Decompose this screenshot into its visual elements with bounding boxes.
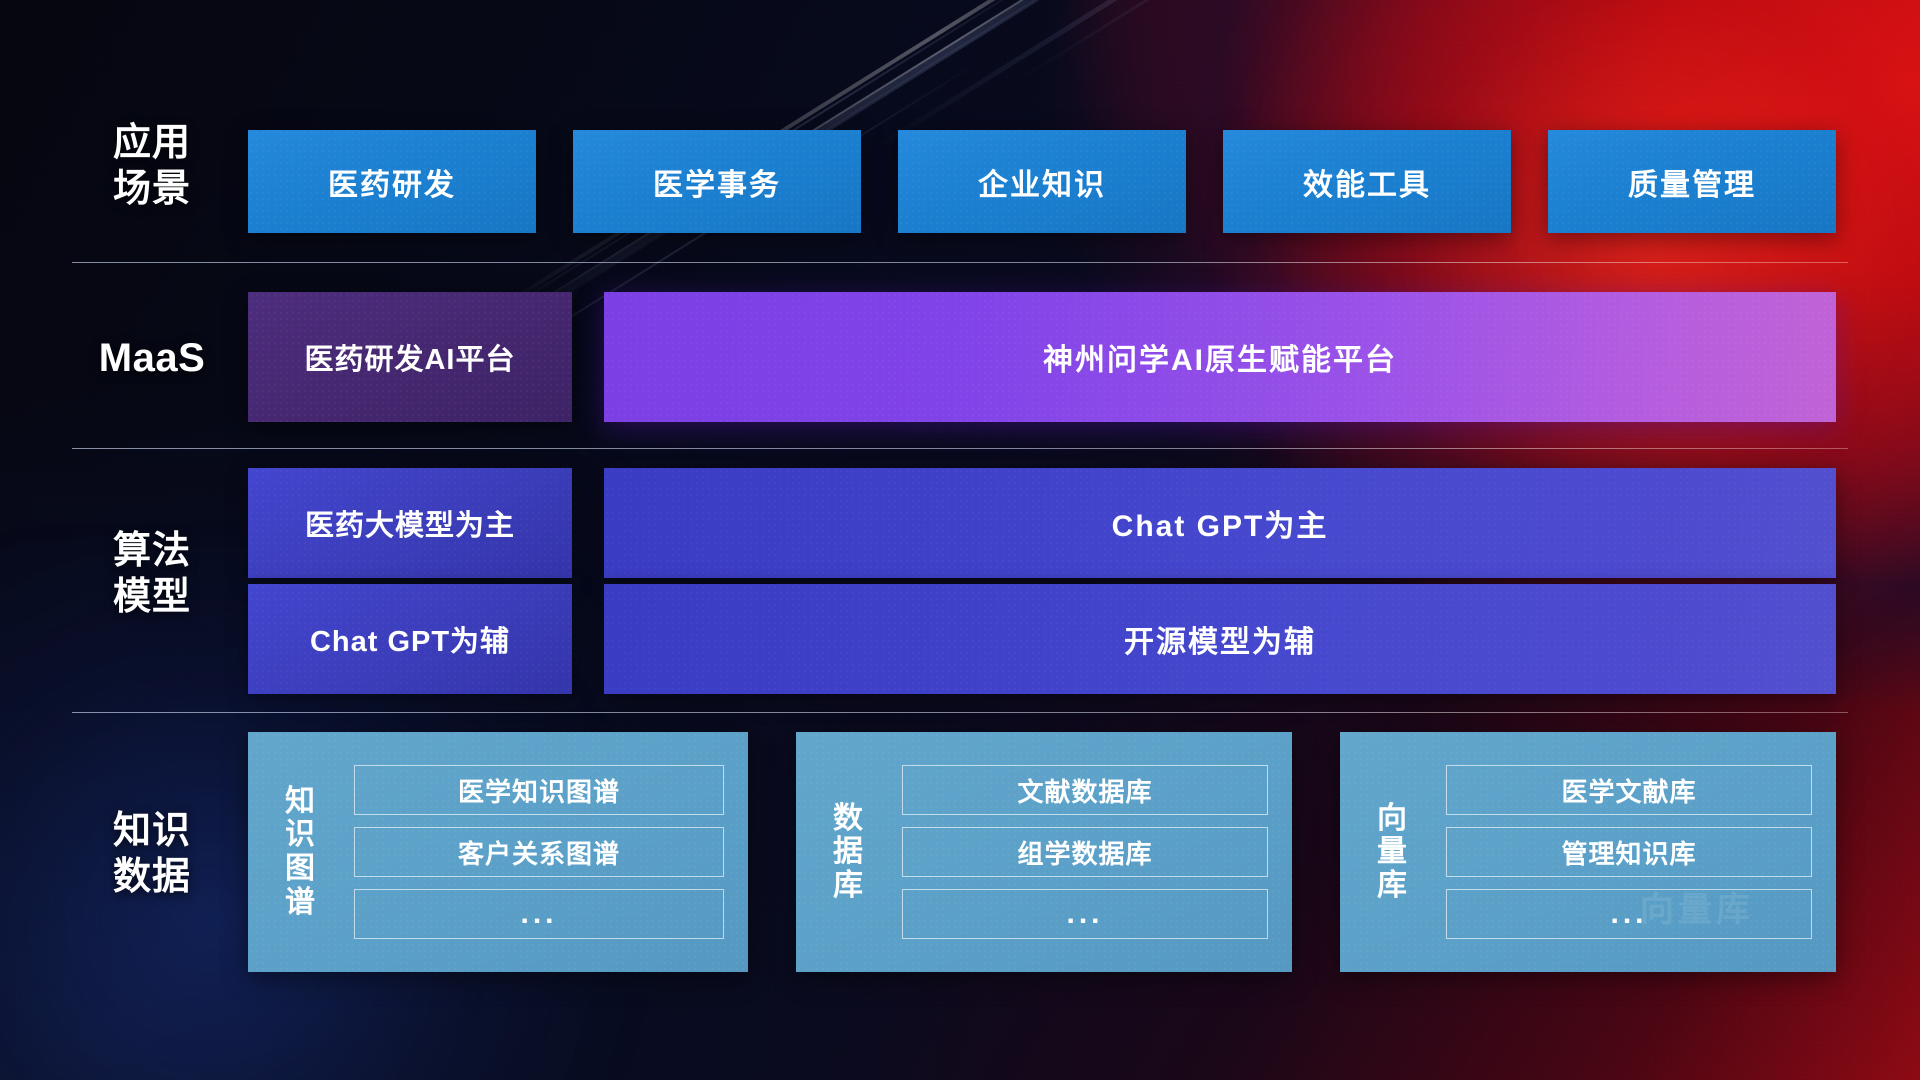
algo-box-opensource-secondary[interactable]: 开源模型为辅 [604, 584, 1836, 694]
title-char: 库 [833, 869, 863, 903]
knowledge-item-label: 客户关系图谱 [458, 834, 620, 871]
knowledge-item-label: 文献数据库 [1017, 772, 1152, 809]
app-box-label: 质量管理 [1628, 160, 1756, 204]
knowledge-item[interactable]: 客户关系图谱 [354, 827, 724, 877]
knowledge-card-items: 医学文献库 管理知识库 ... [1438, 732, 1836, 972]
algo-box-label: Chat GPT为主 [1112, 501, 1329, 545]
title-char: 图 [285, 852, 315, 886]
title-char: 据 [833, 835, 863, 869]
title-char: 向 [1377, 802, 1407, 836]
knowledge-item[interactable]: 医学知识图谱 [354, 765, 724, 815]
title-char: 数 [833, 802, 863, 836]
knowledge-item[interactable]: 组学数据库 [902, 827, 1268, 877]
title-char: 量 [1377, 835, 1407, 869]
algo-box-label: 开源模型为辅 [1124, 617, 1316, 661]
algo-box-label: 医药大模型为主 [305, 502, 515, 544]
row-label-line: 场景 [72, 166, 232, 212]
row-label-line: 应用 [72, 120, 232, 166]
title-char: 知 [285, 785, 315, 819]
row-label-application: 应用 场景 [72, 120, 232, 213]
knowledge-item[interactable]: 文献数据库 [902, 765, 1268, 815]
row-label-line: MaaS [72, 334, 232, 383]
knowledge-item-more[interactable]: ... [354, 889, 724, 939]
knowledge-card-vector-store[interactable]: 向量库 向 量 库 医学文献库 管理知识库 ... [1340, 732, 1836, 972]
app-box-enterprise-knowledge[interactable]: 企业知识 [898, 130, 1186, 233]
app-box-medicine-rd[interactable]: 医药研发 [248, 130, 536, 233]
app-box-efficiency-tools[interactable]: 效能工具 [1223, 130, 1511, 233]
knowledge-item-label: 医学文献库 [1561, 772, 1696, 809]
maas-box-label: 医药研发AI平台 [304, 336, 515, 378]
knowledge-item-label: 管理知识库 [1561, 834, 1696, 871]
knowledge-item-label: ... [1610, 897, 1647, 931]
title-char: 识 [285, 818, 315, 852]
knowledge-item[interactable]: 医学文献库 [1446, 765, 1812, 815]
title-char: 谱 [285, 886, 315, 920]
knowledge-card-items: 文献数据库 组学数据库 ... [894, 732, 1292, 972]
row-label-line: 算法 [72, 528, 232, 574]
app-box-medical-affairs[interactable]: 医学事务 [573, 130, 861, 233]
divider-maas-algorithm [72, 448, 1848, 449]
knowledge-card-title: 知 识 图 谱 [248, 732, 346, 972]
row-label-line: 知识 [72, 808, 232, 854]
app-box-label: 医学事务 [653, 160, 781, 204]
knowledge-item-more[interactable]: ... [1446, 889, 1812, 939]
maas-box-label: 神州问学AI原生赋能平台 [1043, 335, 1397, 379]
title-char: 库 [1377, 869, 1407, 903]
algo-box-chatgpt-secondary[interactable]: Chat GPT为辅 [248, 584, 572, 694]
row-label-maas: MaaS [72, 334, 232, 383]
maas-box-medicine-ai-platform[interactable]: 医药研发AI平台 [248, 292, 572, 422]
knowledge-item-label: 医学知识图谱 [458, 772, 620, 809]
divider-application-maas [72, 262, 1848, 263]
knowledge-item-label: ... [520, 897, 557, 931]
knowledge-item-label: 组学数据库 [1017, 834, 1152, 871]
knowledge-card-items: 医学知识图谱 客户关系图谱 ... [346, 732, 748, 972]
algo-box-medicine-llm-primary[interactable]: 医药大模型为主 [248, 468, 572, 578]
architecture-diagram: 应用 场景 医药研发 医学事务 企业知识 效能工具 质量管理 MaaS 医药研发… [0, 0, 1920, 1080]
algo-box-chatgpt-primary[interactable]: Chat GPT为主 [604, 468, 1836, 578]
row-label-line: 数据 [72, 854, 232, 900]
app-box-label: 医药研发 [328, 160, 456, 204]
app-box-label: 效能工具 [1303, 160, 1431, 204]
divider-algorithm-knowledge [72, 712, 1848, 713]
algo-box-label: Chat GPT为辅 [310, 618, 510, 660]
knowledge-item-more[interactable]: ... [902, 889, 1268, 939]
app-box-label: 企业知识 [978, 160, 1106, 204]
knowledge-item-label: ... [1066, 897, 1103, 931]
knowledge-card-title: 数 据 库 [796, 732, 894, 972]
row-label-algorithm: 算法 模型 [72, 528, 232, 621]
row-label-line: 模型 [72, 574, 232, 620]
knowledge-card-graph[interactable]: 知 识 图 谱 医学知识图谱 客户关系图谱 ... [248, 732, 748, 972]
knowledge-card-title: 向 量 库 [1340, 732, 1438, 972]
row-label-knowledge: 知识 数据 [72, 808, 232, 901]
knowledge-item[interactable]: 管理知识库 [1446, 827, 1812, 877]
maas-box-shenzhou-wenxue-platform[interactable]: 神州问学AI原生赋能平台 [604, 292, 1836, 422]
app-box-quality-management[interactable]: 质量管理 [1548, 130, 1836, 233]
knowledge-card-database[interactable]: 数 据 库 文献数据库 组学数据库 ... [796, 732, 1292, 972]
